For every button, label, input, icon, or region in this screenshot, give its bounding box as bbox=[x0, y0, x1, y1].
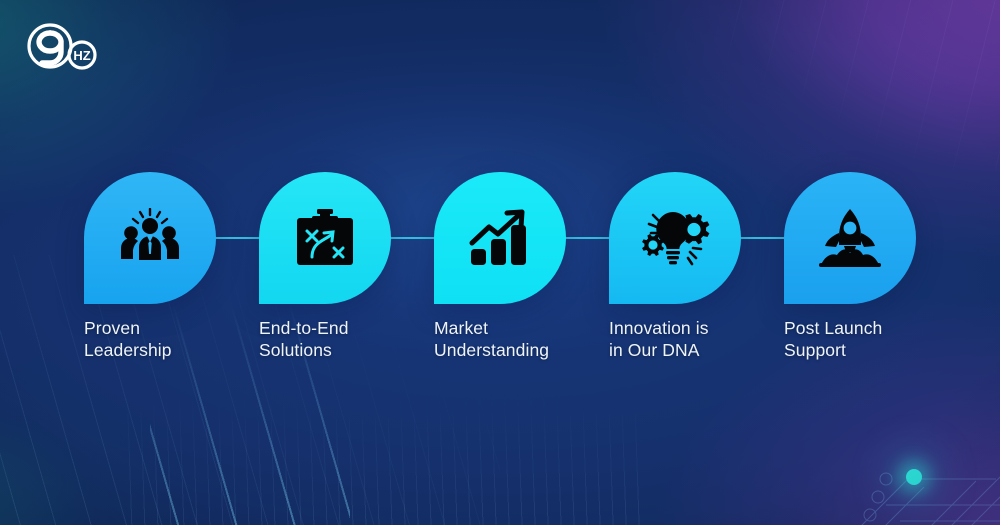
bubble-proven-leadership[interactable] bbox=[84, 172, 216, 304]
label-market-understanding: Market Understanding bbox=[434, 317, 604, 361]
team-leadership-icon bbox=[117, 208, 183, 268]
growth-bar-chart-icon bbox=[467, 209, 533, 267]
item-proven-leadership[interactable]: Proven Leadership bbox=[84, 172, 216, 304]
rocket-launch-icon bbox=[815, 207, 885, 269]
item-innovation-in-our-dna[interactable]: Innovation is in Our DNA bbox=[609, 172, 741, 304]
bubble-innovation-in-our-dna[interactable] bbox=[609, 172, 741, 304]
bubble-post-launch-support[interactable] bbox=[784, 172, 916, 304]
infographic-canvas: HZ bbox=[0, 0, 1000, 525]
strategy-clipboard-icon bbox=[293, 207, 357, 269]
label-post-launch-support: Post Launch Support bbox=[784, 317, 954, 361]
item-market-understanding[interactable]: Market Understanding bbox=[434, 172, 566, 304]
label-proven-leadership: Proven Leadership bbox=[84, 317, 254, 361]
items-row: Proven Leadership bbox=[0, 0, 1000, 525]
bubble-market-understanding[interactable] bbox=[434, 172, 566, 304]
lightbulb-gears-icon bbox=[640, 206, 710, 270]
label-end-to-end-solutions: End-to-End Solutions bbox=[259, 317, 429, 361]
item-post-launch-support[interactable]: Post Launch Support bbox=[784, 172, 916, 304]
bubble-end-to-end-solutions[interactable] bbox=[259, 172, 391, 304]
label-innovation-in-our-dna: Innovation is in Our DNA bbox=[609, 317, 779, 361]
item-end-to-end-solutions[interactable]: End-to-End Solutions bbox=[259, 172, 391, 304]
